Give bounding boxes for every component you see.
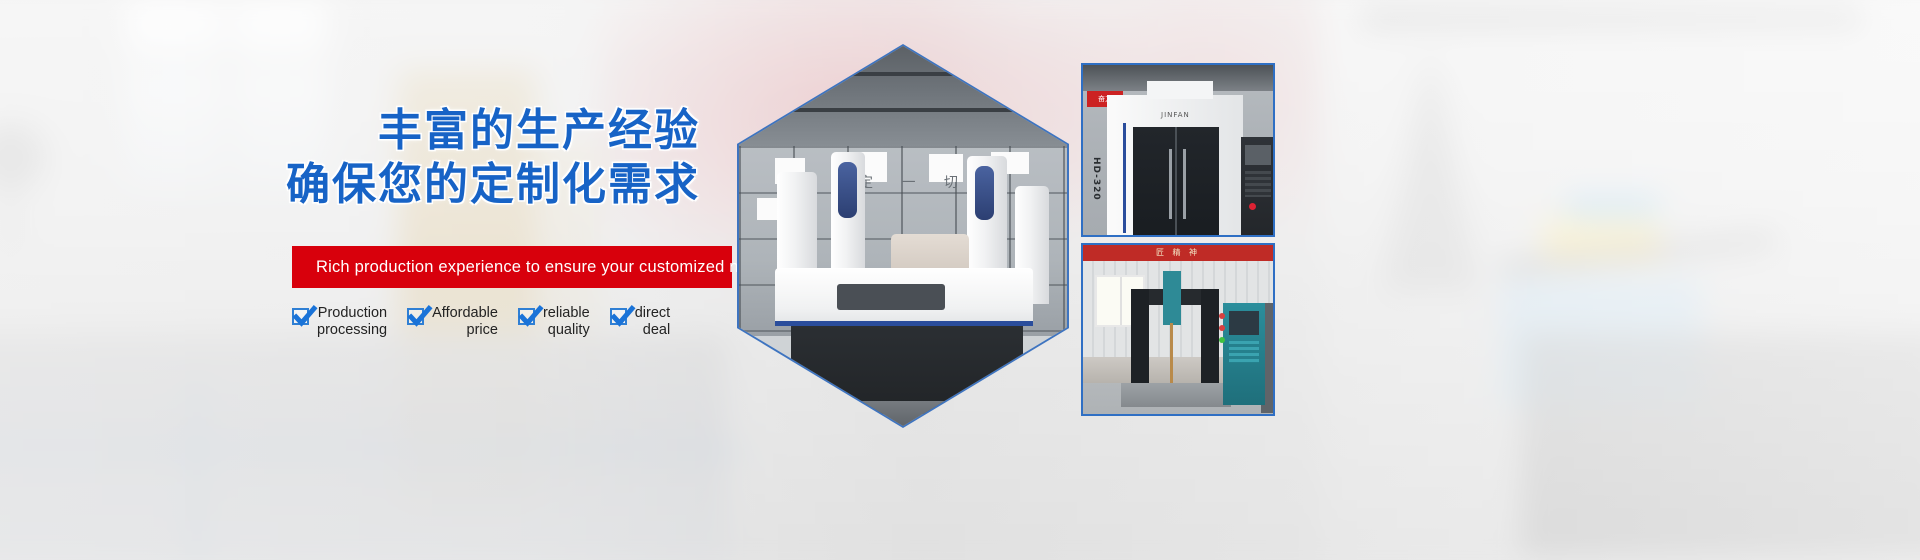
thumb2-panel-keypad	[1229, 341, 1259, 363]
feature-item[interactable]: reliable quality	[518, 300, 590, 339]
thumb2-work-table	[1121, 383, 1231, 407]
feature-list: Production processing Affordable price	[292, 300, 742, 339]
thumb1-door-handle	[1183, 149, 1186, 219]
thumb1-machine-body: JINFAN HD-320	[1107, 95, 1243, 237]
feature-label-line-1: Affordable	[432, 305, 498, 322]
thumb2-button-icon	[1219, 325, 1225, 331]
thumb2-wall-banner-text: 匠 精 神	[1083, 245, 1273, 261]
feature-label: Production processing	[317, 300, 387, 339]
thumb1-enclosure-door	[1133, 127, 1219, 237]
photo-machine-window	[838, 162, 857, 218]
text-column: 丰富的生产经验 确保您的定制化需求 Rich production experi…	[0, 0, 760, 560]
feature-label-line-1: reliable	[543, 305, 590, 322]
feature-item[interactable]: Affordable price	[407, 300, 498, 339]
headline: 丰富的生产经验 确保您的定制化需求	[0, 104, 700, 212]
checkbox-checked-icon[interactable]	[610, 308, 627, 325]
thumb1-door-handle	[1169, 149, 1172, 219]
feature-label: direct deal	[635, 300, 670, 339]
feature-label-line-2: processing	[317, 322, 387, 339]
thumb1-control-panel	[1241, 137, 1275, 237]
feature-item[interactable]: Production processing	[292, 300, 387, 339]
photo-machine-window	[975, 166, 994, 220]
thumb2-control-panel	[1223, 303, 1265, 405]
feature-label-line-1: Production	[317, 305, 387, 322]
photo-bed-slot	[837, 284, 945, 310]
headline-line-1: 丰富的生产经验	[378, 105, 700, 156]
subtitle-red-bar: Rich production experience to ensure you…	[292, 246, 732, 288]
feature-label-line-2: quality	[543, 322, 590, 339]
feature-label-line-1: direct	[635, 305, 670, 322]
thumbnail-machining-center[interactable]: 奋力 JINFAN HD-320	[1081, 63, 1275, 237]
thumb2-spindle	[1163, 271, 1181, 325]
feature-label-line-2: price	[432, 322, 498, 339]
photo-wall-sign: 定 一 切	[859, 172, 970, 192]
thumbnail-gantry-machine[interactable]: 匠 精 神	[1081, 243, 1275, 416]
thumb1-blue-stripe	[1123, 123, 1126, 233]
promo-banner: 丰富的生产经验 确保您的定制化需求 Rich production experi…	[0, 0, 1920, 560]
checkbox-checked-icon[interactable]	[407, 308, 424, 325]
feature-item[interactable]: direct deal	[610, 300, 670, 339]
checkbox-checked-icon[interactable]	[292, 308, 309, 325]
thumb1-emergency-stop-icon	[1249, 203, 1256, 210]
thumb1-panel-screen	[1245, 145, 1271, 165]
thumb2-gantry-column	[1131, 289, 1149, 385]
thumb1-machine-head	[1147, 81, 1213, 99]
thumb2-gantry-column	[1201, 289, 1219, 385]
photo-machine-bed	[775, 268, 1033, 326]
thumb1-model-label: HD-320	[1091, 157, 1101, 201]
feature-label: Affordable price	[432, 300, 498, 339]
thumbnail-stack: 奋力 JINFAN HD-320 匠 精 神	[1081, 63, 1275, 416]
checkbox-checked-icon[interactable]	[518, 308, 535, 325]
thumb2-panel-screen	[1229, 311, 1259, 335]
thumb2-button-icon	[1219, 313, 1225, 319]
thumb2-wall-banner: 匠 精 神	[1083, 245, 1273, 261]
feature-label: reliable quality	[543, 300, 590, 339]
thumb2-button-icon	[1219, 337, 1225, 343]
thumb1-panel-keypad	[1245, 171, 1271, 197]
subtitle-text: Rich production experience to ensure you…	[292, 258, 775, 277]
feature-label-line-2: deal	[635, 322, 670, 339]
thumb2-drill-bit	[1170, 323, 1173, 387]
headline-line-2: 确保您的定制化需求	[0, 158, 700, 212]
thumb1-brand-label: JINFAN	[1161, 111, 1190, 119]
